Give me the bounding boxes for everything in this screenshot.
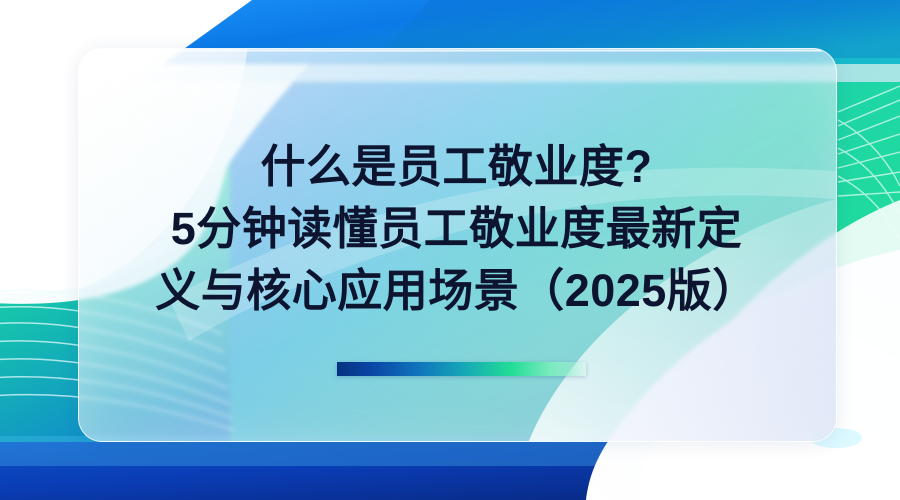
title-card-canvas: 什么是员工敬业度? 5分钟读懂员工敬业度最新定 义与核心应用场景（2025版） [0, 0, 900, 500]
accent-underline-bar [337, 362, 586, 376]
glass-panel [78, 48, 837, 442]
glass-panel-artwork [79, 49, 836, 441]
